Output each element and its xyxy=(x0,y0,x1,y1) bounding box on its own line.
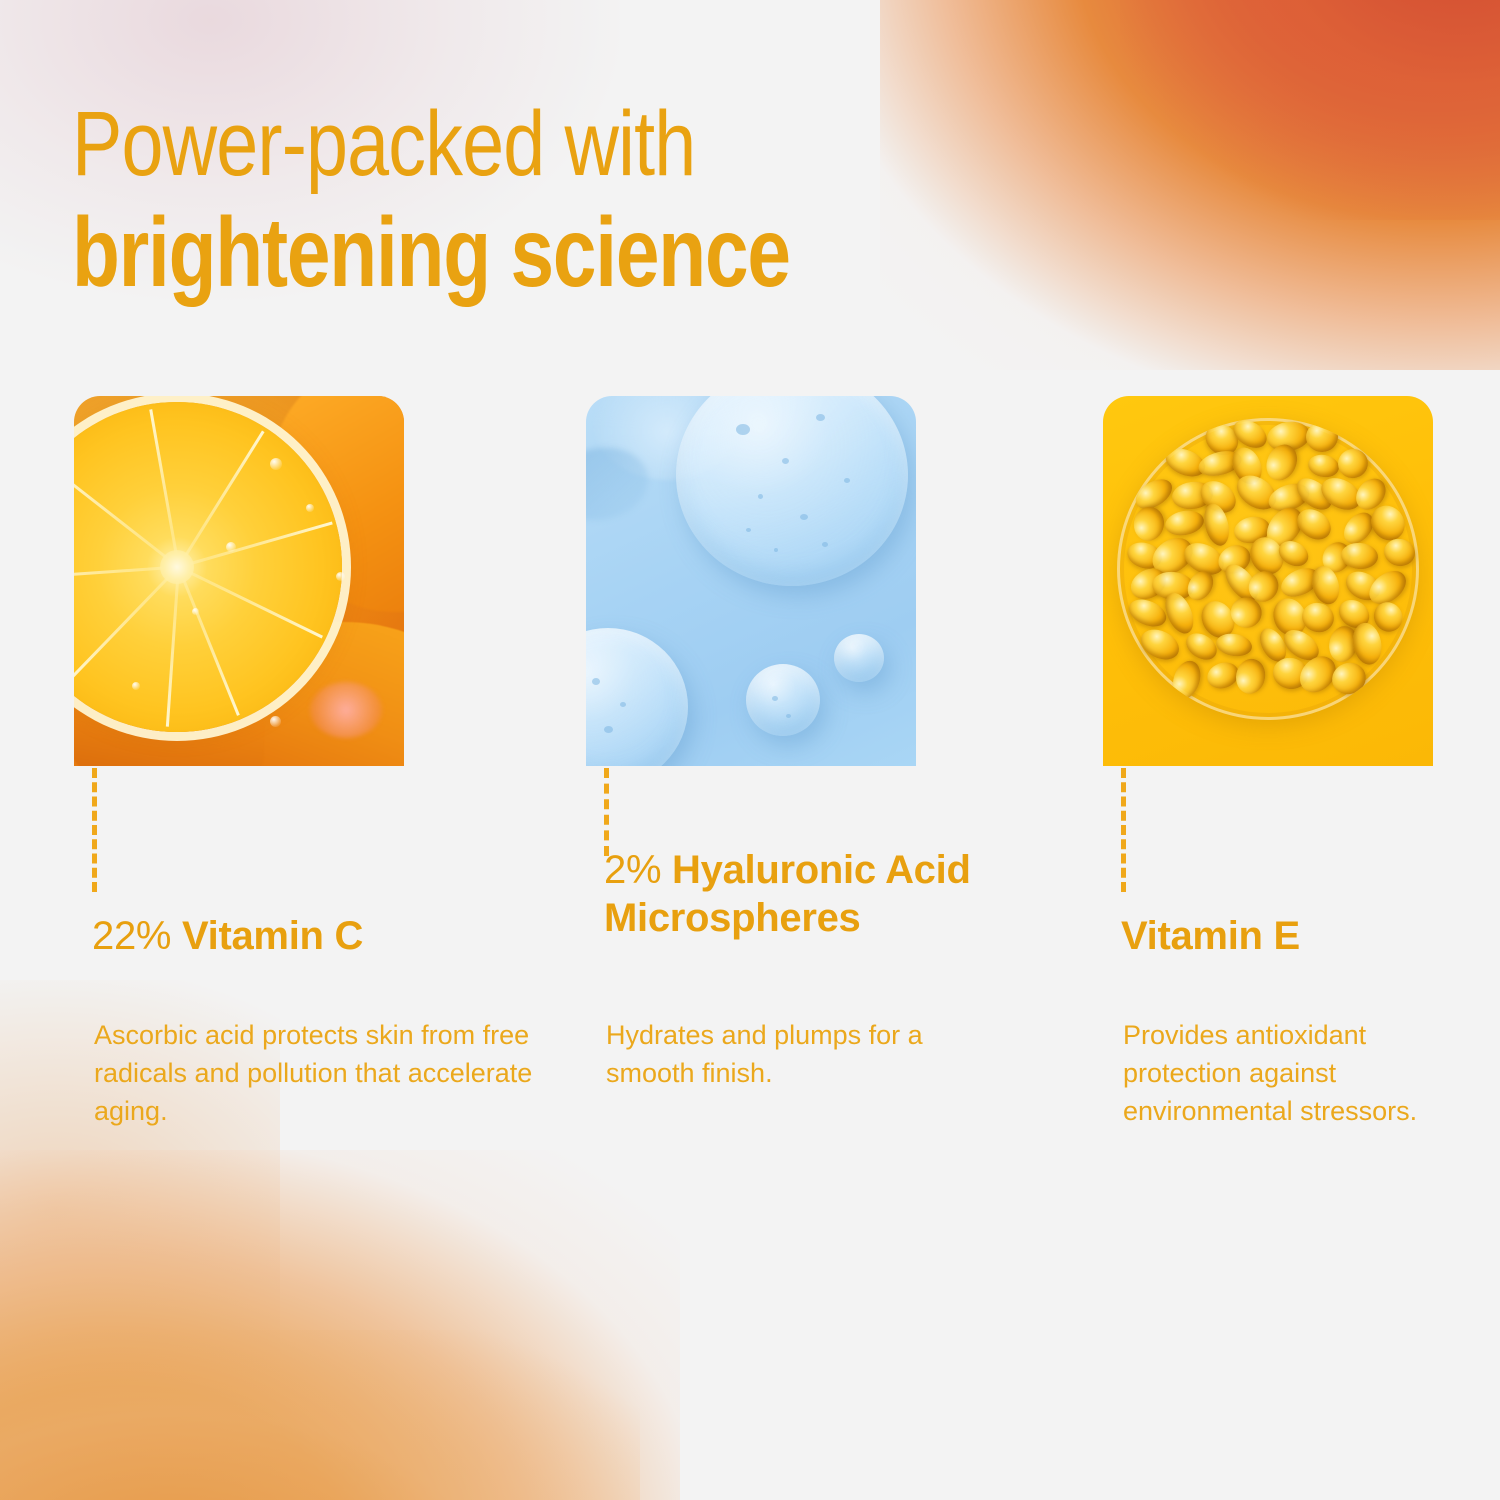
softgel-capsule xyxy=(1306,452,1341,480)
ingredient-title-hyaluronic-acid: 2% Hyaluronic Acid Microspheres xyxy=(604,846,1044,942)
softgel-capsule xyxy=(1382,536,1418,569)
water-droplet-icon xyxy=(306,504,314,512)
orange-highlight-shape xyxy=(310,682,382,738)
ingredient-name: Vitamin E xyxy=(1121,914,1300,958)
softgel-capsule xyxy=(1163,507,1206,538)
softgel-capsule xyxy=(1215,631,1254,659)
gel-bubble-tiny xyxy=(834,634,884,682)
water-droplet-icon xyxy=(270,458,282,470)
page-title: Power-packed with brightening science xyxy=(72,96,1072,304)
headline-line-2: brightening science xyxy=(72,200,872,304)
ingredient-image-vitamin-c xyxy=(74,396,404,766)
ingredient-percent: 2% xyxy=(604,848,661,892)
softgel-capsule xyxy=(1168,657,1204,702)
ingredient-percent: 22% xyxy=(92,914,171,958)
ingredient-card-vitamin-c: 22% Vitamin C Ascorbic acid protects ski… xyxy=(74,396,404,766)
gel-streak-shape xyxy=(586,448,648,520)
dashed-connector-line xyxy=(604,768,614,856)
ingredient-title-vitamin-e: Vitamin E xyxy=(1121,912,1500,960)
water-droplet-icon xyxy=(192,608,199,615)
dashed-connector-line xyxy=(92,768,102,892)
softgel-capsule xyxy=(1125,594,1170,632)
headline-line-1: Power-packed with xyxy=(72,96,892,192)
ingredient-description-vitamin-e: Provides antioxidant protection against … xyxy=(1123,1016,1473,1130)
gel-bubble-large xyxy=(676,396,908,586)
ingredient-title-vitamin-c: 22% Vitamin C xyxy=(92,912,532,960)
dashed-connector-line xyxy=(1121,768,1131,892)
gel-bubble-medium xyxy=(586,628,688,766)
ingredient-image-vitamin-e xyxy=(1103,396,1433,766)
softgel-capsule xyxy=(1334,446,1370,482)
gel-bubble-small xyxy=(746,664,820,736)
petri-dish-icon xyxy=(1117,418,1419,720)
softgel-capsule xyxy=(1233,656,1268,695)
ingredient-name: Vitamin C xyxy=(182,914,363,958)
softgel-capsule xyxy=(1306,422,1339,453)
ingredient-card-hyaluronic-acid: 2% Hyaluronic Acid Microspheres Hydrates… xyxy=(586,396,916,766)
ingredient-description-hyaluronic-acid: Hydrates and plumps for a smooth finish. xyxy=(606,1016,956,1092)
corner-wash-bottom-left-core xyxy=(0,1330,640,1500)
softgel-capsule xyxy=(1299,599,1338,636)
ingredient-infographic: Power-packed with brightening science xyxy=(0,0,1500,1500)
water-droplet-icon xyxy=(270,716,281,727)
corner-wash-top-right-core xyxy=(1120,0,1500,220)
corner-wash-bottom-left xyxy=(0,1150,680,1500)
water-droplet-icon xyxy=(226,542,236,552)
water-droplet-icon xyxy=(132,682,140,690)
ingredient-card-vitamin-e: Vitamin E Provides antioxidant protectio… xyxy=(1103,396,1433,766)
ingredient-image-hyaluronic-acid xyxy=(586,396,916,766)
softgel-capsule xyxy=(1131,504,1167,543)
ingredient-description-vitamin-c: Ascorbic acid protects skin from free ra… xyxy=(94,1016,534,1130)
water-droplet-icon xyxy=(336,572,345,581)
